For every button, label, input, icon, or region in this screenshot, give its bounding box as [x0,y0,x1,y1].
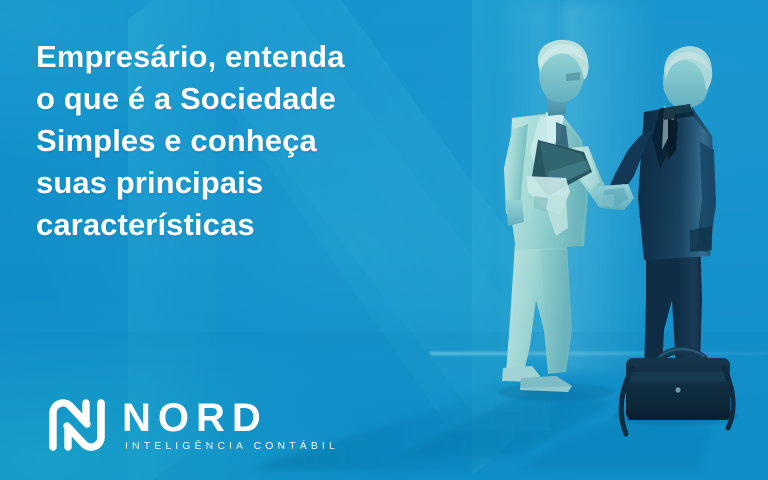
page-title: Empresário, entenda o que é a Sociedade … [36,36,416,246]
promo-banner: Empresário, entenda o que é a Sociedade … [0,0,768,480]
headline-line-2: o que é a Sociedade [36,81,336,116]
nord-n-monogram-icon [46,396,108,454]
brand-logo[interactable]: NORD INTELIGÊNCIA CONTÁBIL [46,396,339,454]
businessman-dark-suit [600,46,716,381]
headline-line-3: Simples e conheça [36,123,317,158]
businessman-light-suit [502,40,612,392]
logo-tagline: INTELIGÊNCIA CONTÁBIL [122,439,339,453]
headline-line-4: suas principais [36,165,263,200]
logo-wordmark: NORD [122,398,339,438]
logo-text-block: NORD INTELIGÊNCIA CONTÁBIL [122,398,339,453]
headline-line-5: características [36,207,255,242]
headline-line-1: Empresário, entenda [36,39,345,74]
handshake [594,184,634,210]
